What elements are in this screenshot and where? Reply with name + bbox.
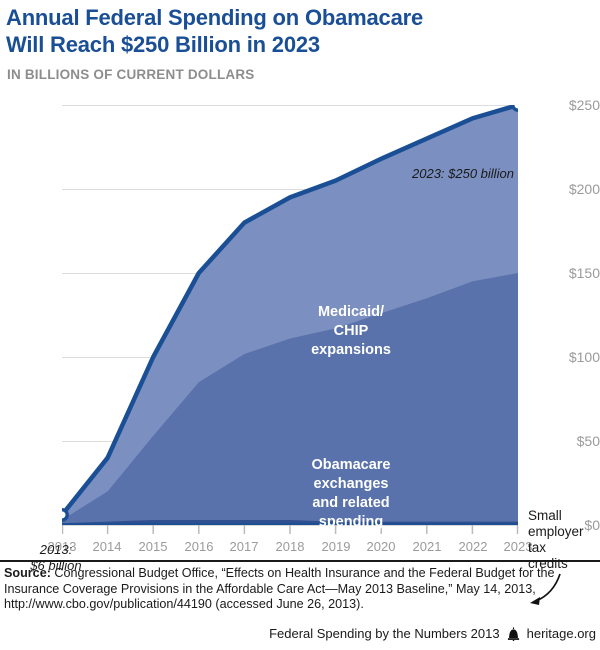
liberty-bell-icon <box>507 627 520 641</box>
report-name: Federal Spending by the Numbers 2013 <box>269 626 500 641</box>
chart-container: $250 $200 $150 $100 $50 $0 <box>0 90 600 560</box>
area-label-medicaid-line-2: CHIP <box>281 322 421 341</box>
annotation-small-employer-tax-credits: Small employer tax credits <box>528 508 594 572</box>
x-axis-label-2017: 2017 <box>221 539 267 554</box>
y-axis-label-150: $150 <box>546 265 600 281</box>
area-label-exchanges-line-4: spending <box>271 513 431 532</box>
y-axis-label-100: $100 <box>546 349 600 365</box>
area-label-medicaid-line-3: expansions <box>281 341 421 360</box>
y-axis-label-250: $250 <box>546 97 600 113</box>
x-axis-label-2021: 2021 <box>404 539 450 554</box>
x-axis-label-2015: 2015 <box>130 539 176 554</box>
marker-2023 <box>513 105 518 110</box>
callout-line-3: tax <box>528 540 594 556</box>
x-axis-label-2019: 2019 <box>313 539 359 554</box>
y-axis-label-200: $200 <box>546 181 600 197</box>
area-label-medicaid-chip: Medicaid/ CHIP expansions <box>281 303 421 360</box>
area-label-medicaid-line-1: Medicaid/ <box>281 303 421 322</box>
chart-subtitle: IN BILLIONS OF CURRENT DOLLARS <box>7 67 255 82</box>
source-note: Source: Congressional Budget Office, “Ef… <box>4 566 596 613</box>
y-axis-label-50: $50 <box>546 433 600 449</box>
x-axis-label-2022: 2022 <box>450 539 496 554</box>
x-axis-label-2020: 2020 <box>358 539 404 554</box>
x-axis-label-2016: 2016 <box>176 539 222 554</box>
footer-divider <box>0 560 600 562</box>
callout-line-2: employer <box>528 524 594 540</box>
area-label-obamacare-exchanges: Obamacare exchanges and related spending <box>271 456 431 532</box>
callout-line-1: Small <box>528 508 594 524</box>
footer-branding: Federal Spending by the Numbers 2013 her… <box>269 626 596 641</box>
source-label: Source: <box>4 566 51 580</box>
x-axis-label-2018: 2018 <box>267 539 313 554</box>
infographic-page: Annual Federal Spending on Obamacare Wil… <box>0 0 600 650</box>
page-title-line-2: Will Reach $250 Billion in 2023 <box>6 31 566 58</box>
annotation-2013-line-1: 2013: <box>8 542 104 558</box>
area-label-exchanges-line-1: Obamacare <box>271 456 431 475</box>
source-text: Congressional Budget Office, “Effects on… <box>4 566 554 611</box>
page-title: Annual Federal Spending on Obamacare Wil… <box>6 4 566 58</box>
site-url: heritage.org <box>527 626 596 641</box>
page-title-line-1: Annual Federal Spending on Obamacare <box>6 4 566 31</box>
annotation-2023-value: 2023: $250 billion <box>412 166 582 182</box>
area-label-exchanges-line-2: exchanges <box>271 475 431 494</box>
area-label-exchanges-line-3: and related <box>271 494 431 513</box>
marker-2013 <box>62 510 67 520</box>
